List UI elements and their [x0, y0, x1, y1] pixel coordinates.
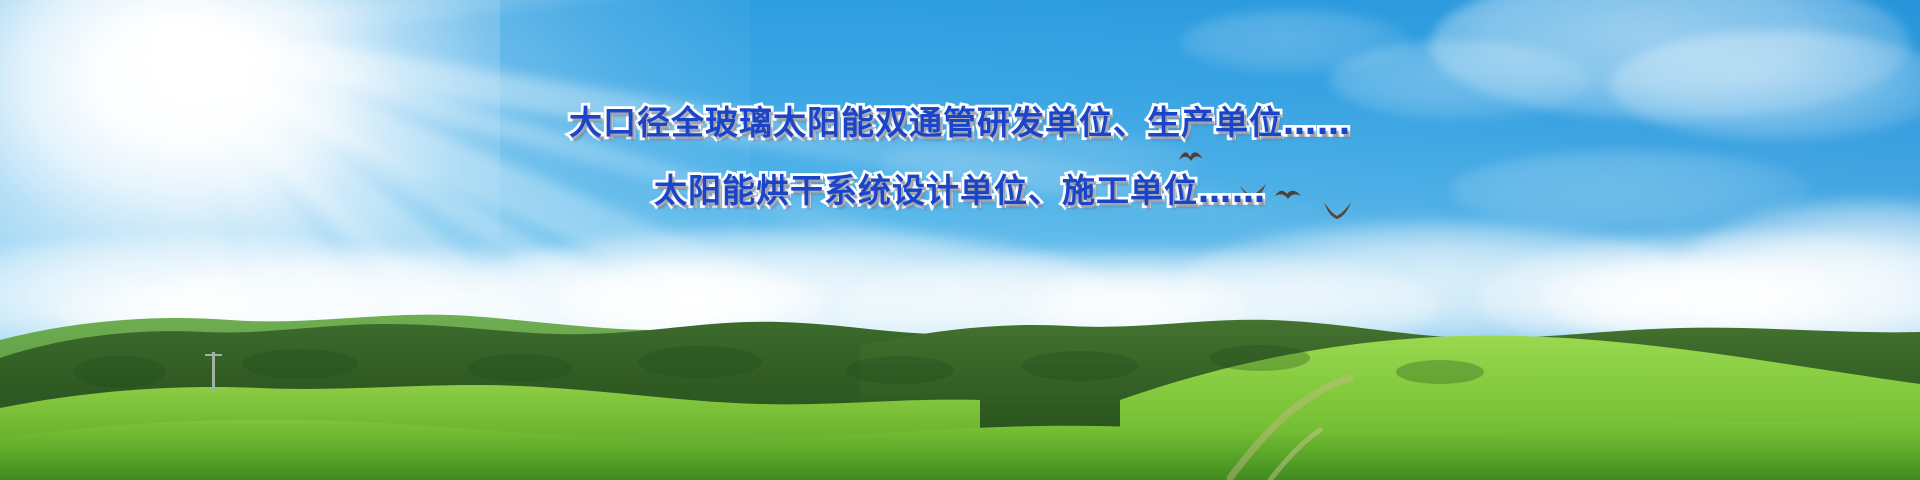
meadow-foreground [0, 420, 1920, 480]
bird-icon [1178, 148, 1204, 166]
cloud [1610, 30, 1920, 140]
bird-icon [1238, 180, 1268, 204]
hills-landscape [0, 280, 1920, 480]
cloud [1180, 10, 1410, 74]
bird-icon [1274, 186, 1302, 206]
utility-pole [212, 352, 215, 392]
hero-banner: 大口径全玻璃太阳能双通管研发单位、生产单位…… 太阳能烘干系统设计单位、施工单位… [0, 0, 1920, 480]
bird-icon [1322, 198, 1352, 220]
cloud [880, 130, 1200, 200]
utility-pole-arm [205, 354, 222, 356]
